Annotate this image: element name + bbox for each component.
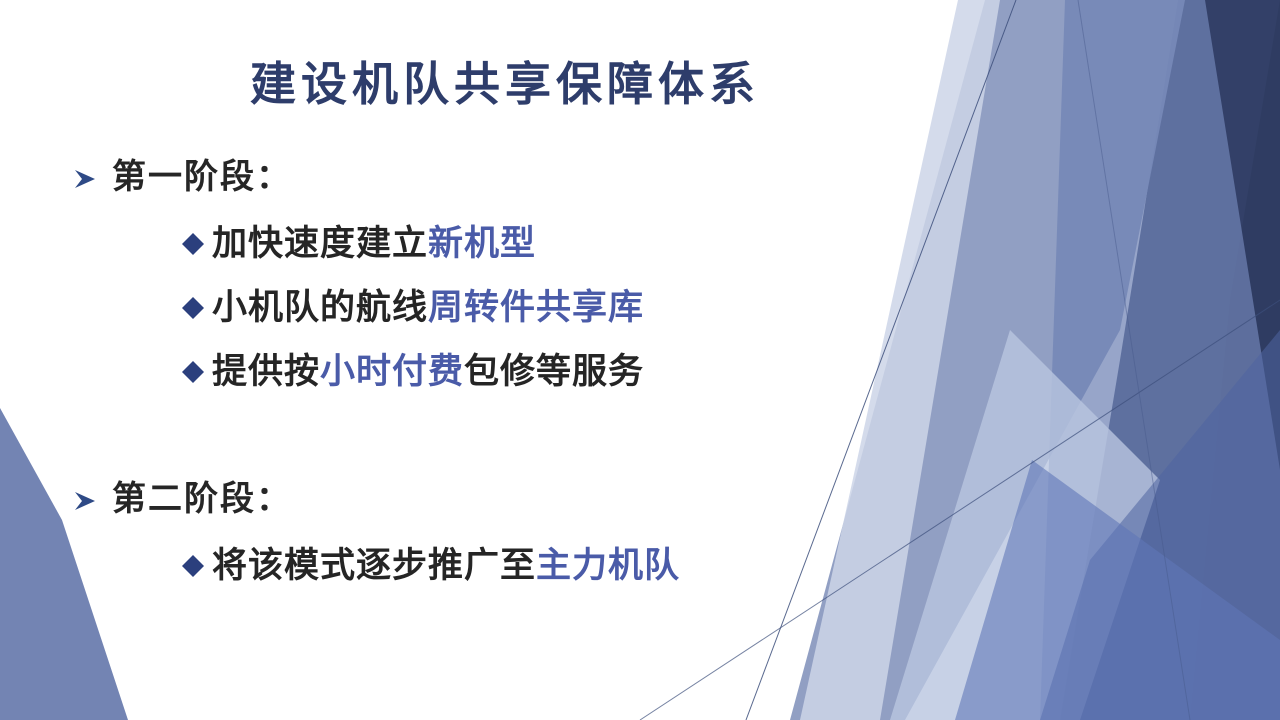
text-plain-after: 包修等服务	[464, 351, 644, 392]
phase1-item-2-text: 小机队的航线周转件共享库	[212, 290, 644, 325]
deco-shape-navy-right-2	[1190, 0, 1280, 720]
diamond-bullet-icon	[180, 231, 206, 257]
text-highlight: 周转件共享库	[428, 287, 644, 328]
diamond-bullet-icon	[180, 359, 206, 385]
diamond-bullet-icon	[180, 553, 206, 579]
phase2-label: 第二阶段：	[112, 482, 292, 516]
deco-shape-blue-diagonal	[955, 460, 1280, 720]
page-title: 建设机队共享保障体系	[250, 58, 760, 111]
phase1-item-2: 小机队的航线周转件共享库	[72, 280, 952, 334]
deco-shape-steel-lower	[1040, 330, 1280, 720]
phase2-item-1-text: 将该模式逐步推广至主力机队	[212, 548, 680, 583]
phase2-heading: 第二阶段：	[72, 474, 952, 524]
phase1-item-1: 加快速度建立新机型	[72, 216, 952, 270]
text-highlight: 主力机队	[536, 545, 680, 586]
deco-hairline-3	[1078, 0, 1190, 720]
text-plain-before: 加快速度建立	[212, 223, 428, 264]
phase2-item-1: 将该模式逐步推广至主力机队	[72, 538, 952, 592]
section-spacer	[72, 408, 952, 474]
phase1-heading: 第一阶段：	[72, 152, 952, 202]
arrow-head-bullet-icon	[72, 488, 98, 514]
phase1-label: 第一阶段：	[112, 160, 292, 194]
text-highlight: 新机型	[428, 223, 536, 264]
phase1-item-1-text: 加快速度建立新机型	[212, 226, 536, 261]
body-content: 第一阶段： 加快速度建立新机型 小机队的航线周转件共享库	[72, 152, 952, 602]
diamond-bullet-icon	[180, 295, 206, 321]
title-block: 建设机队共享保障体系	[0, 58, 1010, 111]
phase1-item-3-text: 提供按小时付费包修等服务	[212, 354, 644, 389]
text-plain-before: 提供按	[212, 351, 320, 392]
text-plain-before: 将该模式逐步推广至	[212, 545, 536, 586]
deco-shape-navy-right	[1060, 0, 1280, 720]
slide-canvas: 建设机队共享保障体系 第一阶段： 加快速度建立新机型 小机队的航线周转	[0, 0, 1280, 720]
arrow-head-bullet-icon	[72, 166, 98, 192]
text-highlight: 小时付费	[320, 351, 464, 392]
text-plain-before: 小机队的航线	[212, 287, 428, 328]
phase1-item-3: 提供按小时付费包修等服务	[72, 344, 952, 398]
deco-shape-steel-band	[1040, 0, 1280, 720]
